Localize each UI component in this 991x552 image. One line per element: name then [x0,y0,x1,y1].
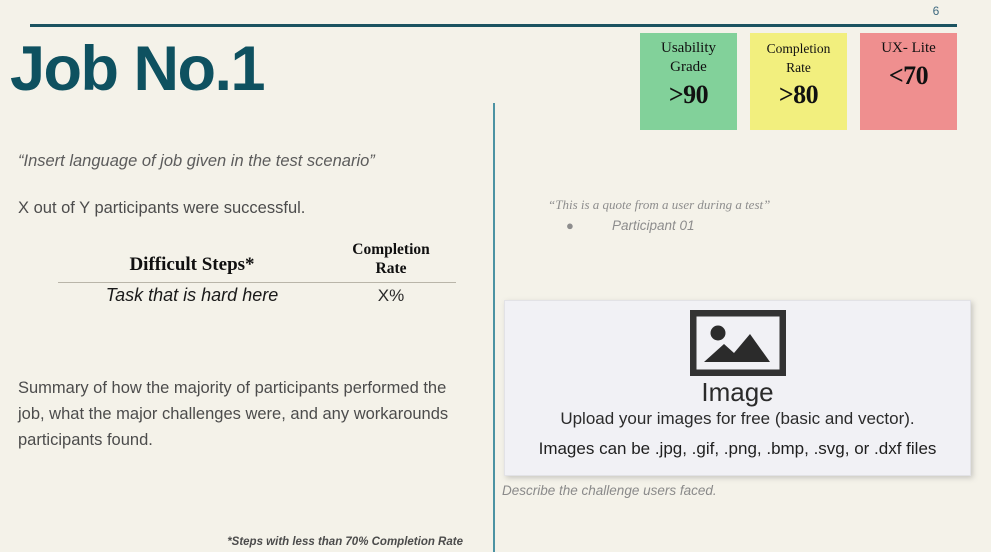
table-header-row: Difficult Steps* Completion Rate [58,240,456,278]
scorecard-value: <70 [889,62,928,90]
bullet-icon: ● [566,217,574,235]
difficult-steps-table: Difficult Steps* Completion Rate Task th… [58,240,456,306]
table-header-completion-rate: Completion Rate [326,240,456,278]
scorecard-label: Completion Rate [753,39,845,77]
slide-canvas: 6 Job No.1 Usability Grade >90 Completio… [0,0,991,552]
column-divider [493,103,495,552]
image-icon [690,310,786,376]
table-header-difficult-steps: Difficult Steps* [58,254,326,278]
header-rule [30,24,957,27]
table-footnote: *Steps with less than 70% Completion Rat… [0,536,463,548]
image-placeholder-card[interactable]: Image Upload your images for free (basic… [504,300,971,476]
scorecard-value: >80 [779,81,818,109]
image-placeholder-title: Image [701,378,773,406]
scorecard-group: Usability Grade >90 Completion Rate >80 … [640,33,957,130]
scorecard-label: Usability Grade [643,39,735,77]
scorecard-label-line1: UX- Lite [881,40,936,56]
image-placeholder-subtitle-1: Upload your images for free (basic and v… [560,409,914,429]
summary-paragraph: Summary of how the majority of participa… [18,375,458,453]
participants-success-line: X out of Y participants were successful. [18,199,305,218]
table-cell-rate: X% [326,286,456,306]
scorecard-completion-rate: Completion Rate >80 [750,33,847,130]
list-item: ● Participant 01 [560,217,695,235]
scorecard-usability-grade: Usability Grade >90 [640,33,737,130]
scorecard-value: >90 [669,81,708,109]
image-caption: Describe the challenge users faced. [502,483,717,498]
image-placeholder-subtitle-2: Images can be .jpg, .gif, .png, .bmp, .s… [539,439,937,459]
table-row: Task that is hard here X% [58,283,456,306]
participant-label: Participant 01 [612,218,695,233]
table-header-completion-rate-line2: Rate [376,260,407,277]
scorecard-label-line2: Grade [670,59,707,75]
scorecard-label: UX- Lite [863,39,955,58]
page-title: Job No.1 [10,36,264,102]
scorecard-ux-lite: UX- Lite <70 [860,33,957,130]
table-cell-step: Task that is hard here [58,285,326,306]
scorecard-label-line2: Rate [786,60,811,75]
scorecard-label-line1: Usability [661,40,716,56]
table-header-completion-rate-line1: Completion [352,241,430,258]
participant-list: ● Participant 01 [560,217,695,235]
user-quote: “This is a quote from a user during a te… [548,197,770,213]
page-number: 6 [906,4,966,18]
job-scenario-quote: “Insert language of job given in the tes… [18,152,375,171]
scorecard-label-line1: Completion [767,41,831,56]
